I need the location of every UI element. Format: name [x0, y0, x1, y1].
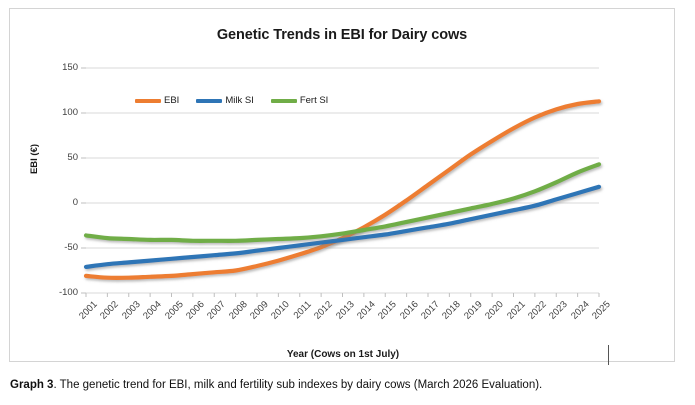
y-tick-label: 100 — [36, 107, 78, 118]
chart-series-group — [86, 101, 599, 278]
y-tick-label: -100 — [36, 287, 78, 298]
y-tick-label: 0 — [36, 197, 78, 208]
chart-container: Genetic Trends in EBI for Dairy cows EBI… — [9, 8, 675, 362]
document-page: Genetic Trends in EBI for Dairy cows EBI… — [0, 0, 695, 405]
caption-text: . The genetic trend for EBI, milk and fe… — [53, 379, 542, 391]
page-divider — [608, 345, 609, 365]
y-tick-label: -50 — [36, 242, 78, 253]
y-tick-label: 50 — [36, 152, 78, 163]
chart-line-milk-si — [86, 187, 599, 267]
figure-caption: Graph 3. The genetic trend for EBI, milk… — [10, 378, 690, 393]
chart-line-ebi — [86, 101, 599, 278]
chart-tick-marks — [81, 68, 599, 297]
caption-label: Graph 3 — [10, 379, 53, 391]
y-tick-label: 150 — [36, 62, 78, 73]
